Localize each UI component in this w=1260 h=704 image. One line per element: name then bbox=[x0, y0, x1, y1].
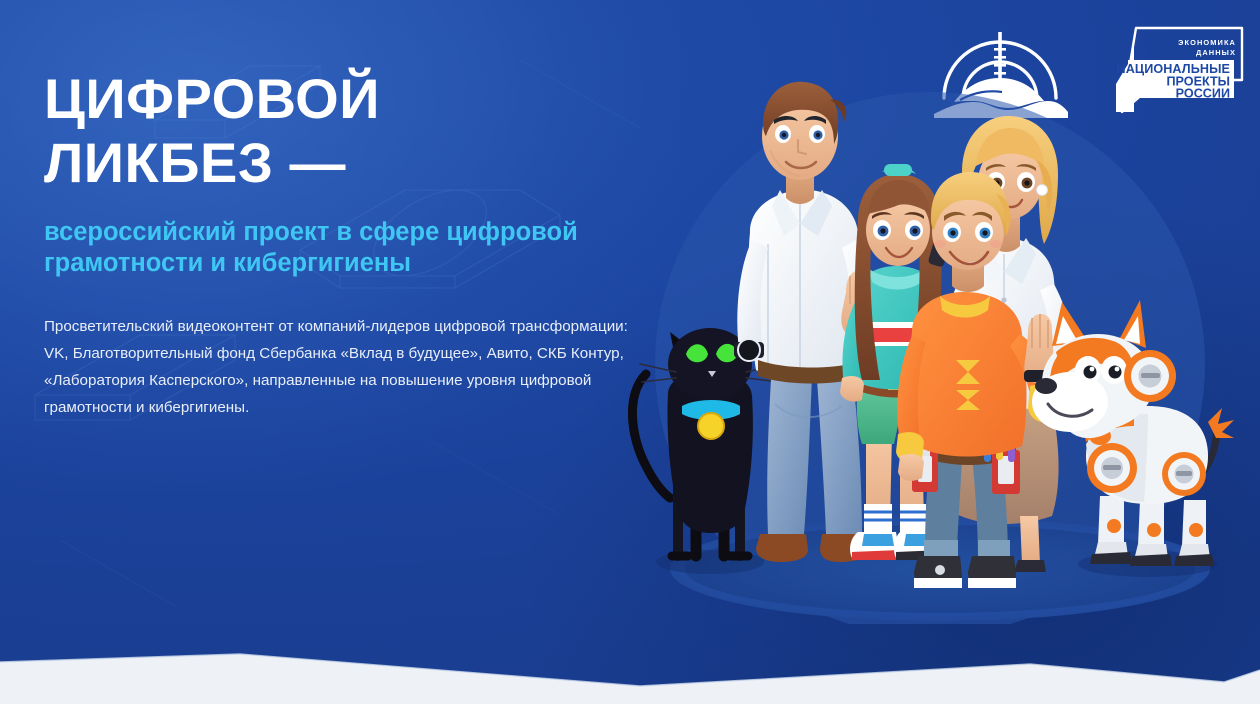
np-top-line-1: ЭКОНОМИКА bbox=[1178, 38, 1236, 47]
father-watch bbox=[734, 339, 764, 361]
np-top-line-2: ДАННЫХ bbox=[1196, 48, 1236, 57]
family-with-pets-illustration bbox=[600, 64, 1260, 624]
page-title-line-2: ЛИКБЕЗ — bbox=[44, 136, 654, 190]
hero-copy: ЦИФРОВОЙ ЛИКБЕЗ — всероссийский проект в… bbox=[44, 72, 654, 421]
page-lead-text: Просветительский видеоконтент от компани… bbox=[44, 313, 634, 421]
page-subtitle: всероссийский проект в сфере цифровой гр… bbox=[44, 217, 629, 279]
bottom-zigzag-divider bbox=[0, 624, 1260, 704]
hero-banner: ЦИФРОВОЙ ЛИКБЕЗ — всероссийский проект в… bbox=[0, 0, 1260, 704]
page-title-line-1: ЦИФРОВОЙ bbox=[44, 67, 380, 130]
page-title: ЦИФРОВОЙ ЛИКБЕЗ — bbox=[44, 72, 654, 191]
